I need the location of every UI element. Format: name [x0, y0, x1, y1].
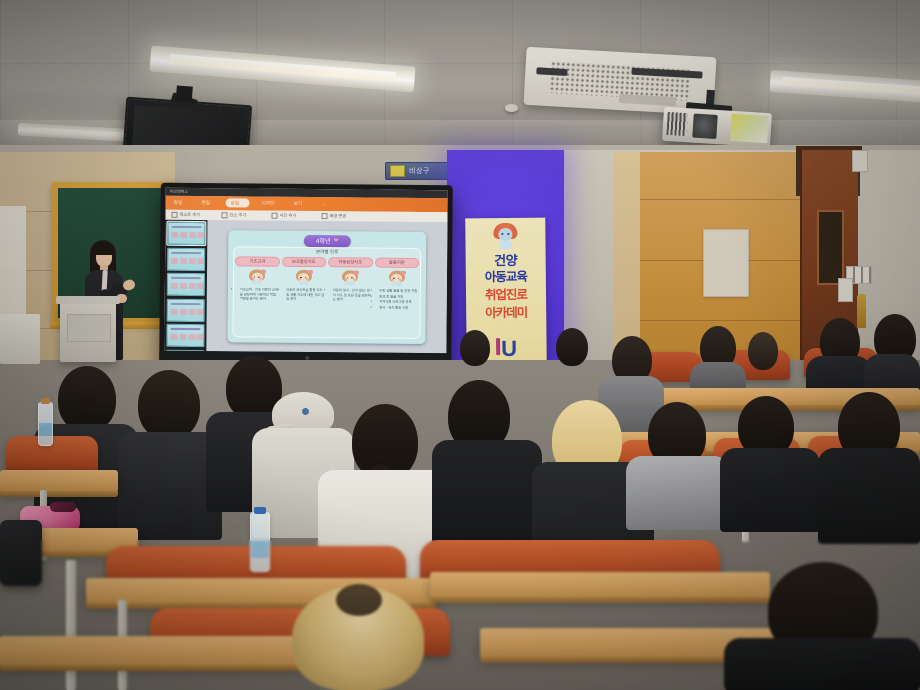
lectern [60, 300, 116, 362]
grade-tag-label: 4학년 [316, 236, 331, 245]
water-bottle [38, 402, 53, 446]
slide-column: 아동상담지도 아동의 정서 · 인지 발달, 정서 지도 및 상담 등을 담당하… [328, 257, 371, 337]
light-switch-panel[interactable] [852, 150, 868, 172]
slide-thumbnail[interactable] [166, 324, 204, 347]
wall-bottle [857, 294, 866, 328]
app-workspace: 4학년 ❤ 분야별 진로 기초교과 [164, 220, 447, 353]
lecture-desk [0, 470, 118, 492]
speech-dot-icon [261, 270, 266, 274]
menu-item-file[interactable]: 파일 [174, 200, 183, 206]
banner-line-4: 아카데미 [466, 302, 546, 322]
slide-column: 돌봄지원 아동 생활 돌봄 및 안전 지원 방과 후 돌봄 지원 [375, 257, 418, 337]
black-backpack [0, 520, 42, 586]
student-avatar [389, 271, 405, 286]
element-tool-icon [221, 213, 227, 219]
column-header: 아동상담지도 [328, 257, 373, 268]
wall-outlet[interactable] [838, 278, 853, 302]
slide-canvas: 4학년 ❤ 분야별 진로 기초교과 [206, 220, 447, 353]
logo-letter: U [501, 336, 517, 361]
wall-mounted-smart-tv[interactable]: 미리캔버스 파일 편집 삽입 디자인 보기 … 텍스트 추가 요소 추가 사진 … [159, 183, 453, 366]
student-avatar [249, 270, 265, 285]
audience-head [556, 328, 588, 366]
audience-head [460, 330, 490, 366]
hair-roots [336, 584, 382, 616]
column-bullet: 아동 생활 돌봄 및 안전 지원 [379, 289, 418, 294]
banner-line-2: 아동교육 [466, 266, 546, 286]
speech-dot-icon [354, 271, 359, 275]
banner-line-3: 취업진로 [466, 284, 546, 304]
tv-screen: 미리캔버스 파일 편집 삽입 디자인 보기 … 텍스트 추가 요소 추가 사진 … [164, 188, 447, 353]
student-avatar [296, 270, 312, 285]
photo-tool-icon [271, 213, 277, 219]
door-window [817, 210, 845, 285]
menu-item-insert[interactable]: 삽입 [231, 200, 240, 206]
audience-torso [818, 448, 920, 544]
projector-lens [693, 113, 718, 138]
wall-edge [0, 206, 26, 326]
lecture-desk [430, 572, 770, 598]
toolbar-item-background[interactable]: 배경 변경 [329, 214, 346, 220]
slide-thumbnail[interactable] [167, 247, 205, 270]
smoke-detector [505, 104, 518, 112]
slide-column: 보조활동지도 아동의 보조학습 활동 지도 및 생활 지도에 대한 지도 담당 … [282, 256, 325, 336]
lecture-desk [0, 636, 320, 666]
text-tool-icon [171, 212, 177, 218]
audience-head [138, 370, 200, 440]
column-header: 기초교과 [235, 256, 280, 267]
lecture-hall-photo: 비상구 미리캔버스 파일 편집 삽입 디자인 보기 … 텍스트 추가 요소 [0, 0, 920, 690]
exit-sign-label: 비상구 [409, 166, 430, 176]
column-bullet: 아동의 정서 · 인지 발달, 정서 지도 및 상담 등을 담당하는 분야 [333, 289, 372, 303]
column-bullet: 정서 · 복지 활동 지원 [379, 305, 418, 310]
menu-item-design[interactable]: 디자인 [262, 201, 275, 207]
water-bottle [250, 512, 270, 572]
wall-trim [614, 152, 642, 367]
audience-head [748, 332, 778, 370]
column-bullet: 지역사회 프로그램 연계 [379, 300, 418, 305]
app-window-title: 미리캔버스 [170, 189, 188, 195]
toolbar-item-text[interactable]: 텍스트 추가 [179, 212, 199, 218]
slide-thumbnail-panel[interactable] [164, 220, 207, 351]
menu-item-more[interactable]: … [322, 201, 327, 206]
university-mascot [492, 223, 518, 249]
audience-torso [626, 456, 730, 530]
ceiling-projector [662, 107, 772, 148]
speech-dot-icon [401, 271, 406, 275]
column-bullet: 아동의 보조학습 활동 지도 및 생활 지도에 대한 지도 담당 분야 [286, 288, 325, 302]
slide-grade-tag: 4학년 ❤ [304, 234, 351, 247]
speech-dot-icon [308, 270, 313, 274]
menu-item-view[interactable]: 보기 [294, 201, 303, 207]
heart-icon: ❤ [334, 237, 339, 244]
audience-torso [720, 448, 820, 532]
av-control-cabinet [0, 314, 40, 364]
menu-item-edit[interactable]: 편집 [202, 200, 211, 206]
toolbar-item-element[interactable]: 요소 추가 [229, 213, 246, 219]
slide-thumbnail[interactable] [167, 299, 205, 322]
exit-door-icon [390, 165, 405, 177]
column-bullet: 기초교육 · 기초 이론의 교육을 담당하며 기본적인 학업역량을 높이는 분야 [240, 288, 279, 302]
university-logo: U [496, 338, 517, 360]
slide-column: 기초교과 기초교육 · 기초 이론의 교육을 담당하며 기본적인 학업역량을 높… [235, 256, 278, 336]
student-avatar [342, 271, 358, 286]
toolbar-item-photo[interactable]: 사진 추가 [279, 213, 296, 219]
audience-head [58, 366, 116, 432]
audience-torso [724, 638, 920, 690]
slide-columns: 기초교과 기초교육 · 기초 이론의 교육을 담당하며 기본적인 학업역량을 높… [235, 256, 418, 338]
presentation-slide: 4학년 ❤ 분야별 진로 기초교과 [227, 230, 426, 344]
background-tool-icon [321, 214, 327, 220]
slide-thumbnail[interactable] [167, 273, 205, 296]
wall-notice [703, 229, 749, 297]
column-bullet: 방과 후 돌봄 지원 [379, 294, 418, 299]
column-header: 보조활동지도 [282, 256, 327, 267]
column-header: 돌봄지원 [375, 257, 420, 268]
slide-thumbnail[interactable] [167, 222, 205, 245]
logo-bar [496, 338, 500, 355]
